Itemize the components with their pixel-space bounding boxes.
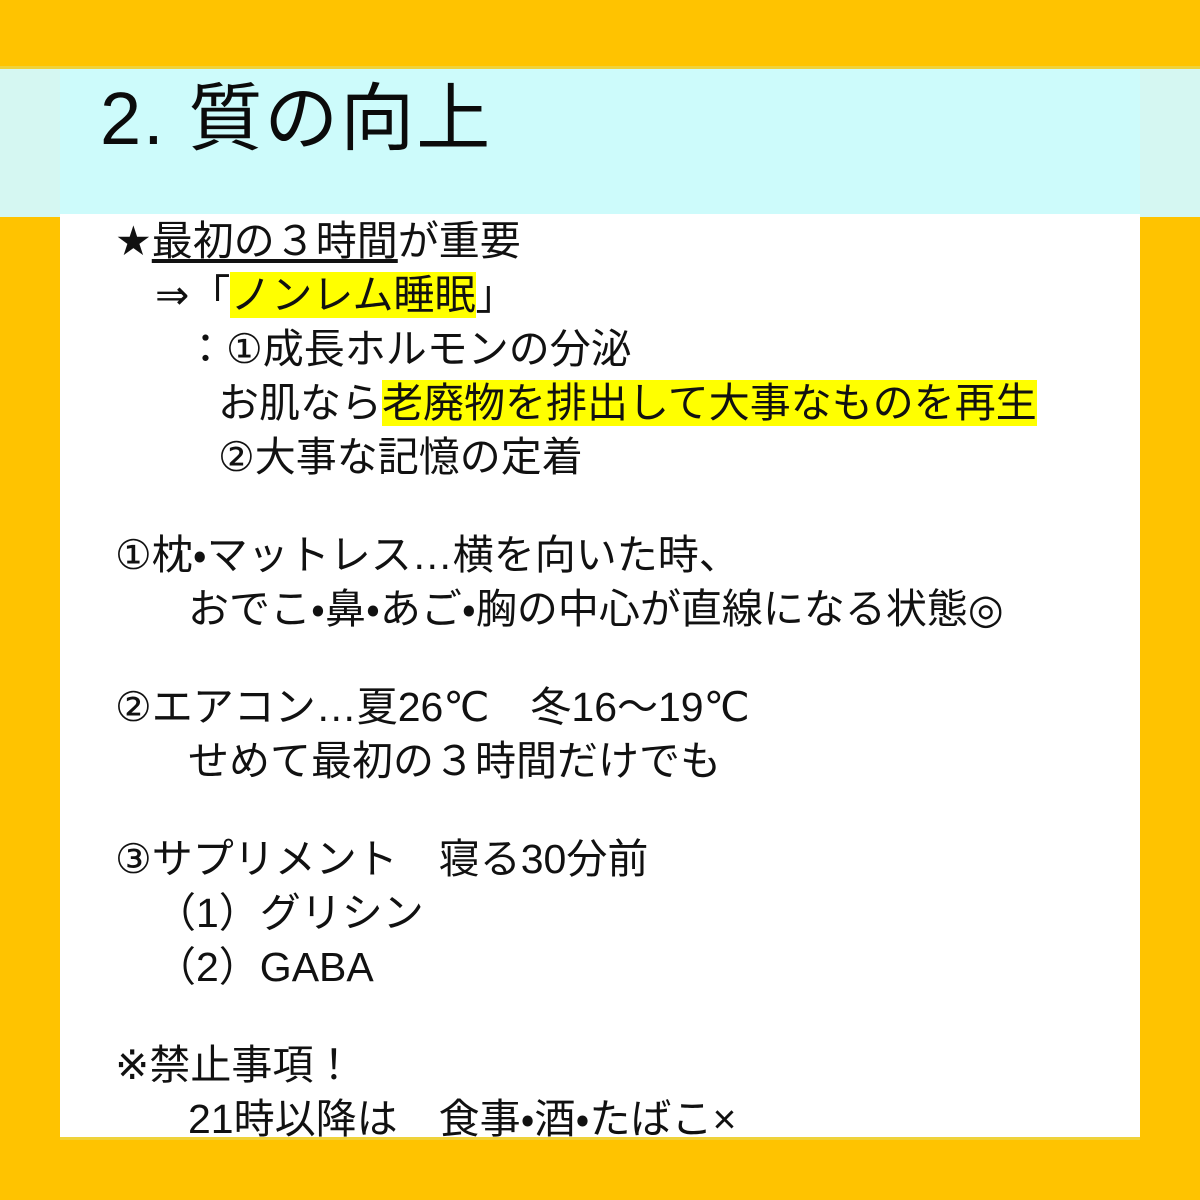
- item-1-detail-alignment: おでこ・鼻・あご・胸の中心が直線になる状態◎: [60, 582, 1140, 636]
- block-spacer-3: [60, 788, 1140, 832]
- highlighted-phrase-regeneration: 老廃物を排出して大事なものを再生: [382, 380, 1037, 426]
- block-spacer-4: [60, 994, 1140, 1038]
- bullet-line-nonrem: ⇒「ノンレム睡眠」: [60, 268, 1140, 322]
- highlighted-phrase-nonrem: ノンレム睡眠: [230, 272, 475, 318]
- item-3-supplement: ③サプリメント 寝る30分前: [60, 832, 1140, 886]
- page-title: 2. 質の向上: [100, 82, 492, 156]
- item-2-aircon: ②エアコン…夏26℃ 冬16〜19℃: [60, 680, 1140, 734]
- star-icon: ★: [115, 218, 152, 264]
- item-3-sub-1-glycine: （1）グリシン: [60, 886, 1140, 940]
- underlined-phrase: 最初の３時間: [152, 218, 398, 264]
- content-panel: ★最初の３時間が重要 ⇒「ノンレム睡眠」 ：①成長ホルモンの分泌 お肌なら老廃物…: [60, 214, 1140, 1140]
- body-text: ★最初の３時間が重要 ⇒「ノンレム睡眠」 ：①成長ホルモンの分泌 お肌なら老廃物…: [60, 214, 1140, 1146]
- item-2-detail-first-3-hours: せめて最初の３時間だけでも: [60, 734, 1140, 788]
- prohibition-detail: 21時以降は 食事・酒・たばこ×: [60, 1092, 1140, 1146]
- bullet-line-growth-hormone: ：①成長ホルモンの分泌: [60, 322, 1140, 376]
- bullet-line-skin: お肌なら老廃物を排出して大事なものを再生: [60, 376, 1140, 430]
- slide-canvas: 2. 質の向上 ★最初の３時間が重要 ⇒「ノンレム睡眠」 ：①成長ホルモンの分泌…: [0, 0, 1200, 1200]
- prohibition-heading: ※禁止事項！: [60, 1038, 1140, 1092]
- line-tail: が重要: [398, 218, 521, 264]
- bullet-line-memory: ②大事な記憶の定着: [60, 430, 1140, 484]
- closing-bracket: 」: [476, 272, 517, 318]
- item-3-sub-2-gaba: （2）GABA: [60, 940, 1140, 994]
- bullet-line-star-important: ★最初の３時間が重要: [60, 214, 1140, 268]
- line-head: お肌なら: [218, 380, 382, 426]
- arrow-icon: ⇒「: [155, 272, 230, 318]
- item-1-pillow-mattress: ①枕・マットレス…横を向いた時、: [60, 528, 1140, 582]
- block-spacer-1: [60, 484, 1140, 528]
- block-spacer-2: [60, 636, 1140, 680]
